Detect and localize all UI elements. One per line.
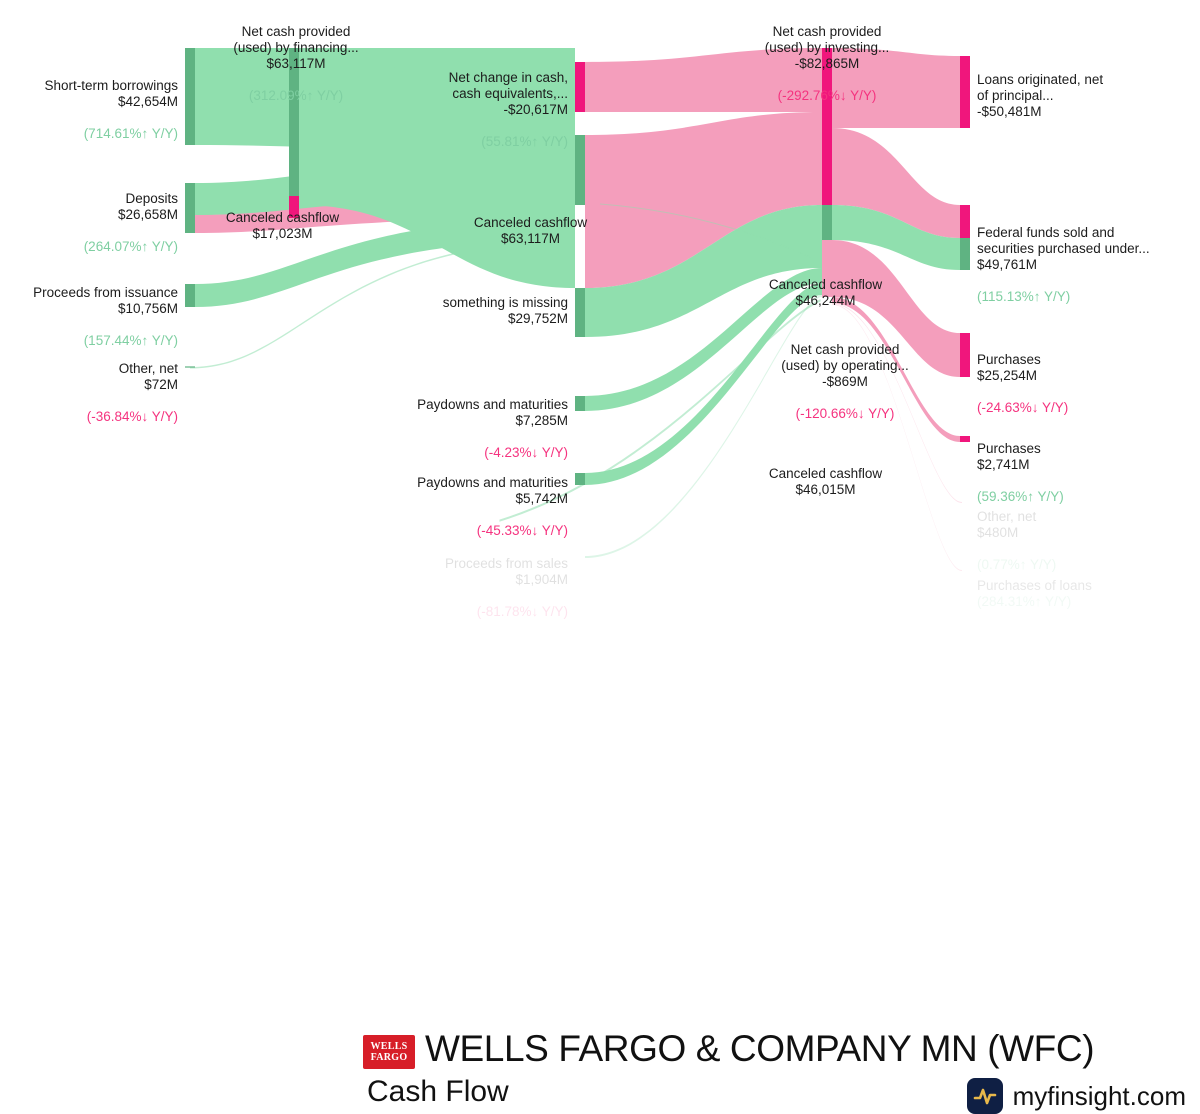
page-subtitle: Cash Flow [367, 1075, 509, 1109]
label-net-cash-operating: Net cash provided (used) by operating...… [750, 326, 940, 438]
node-purchases-25254[interactable] [960, 333, 970, 377]
node-value-text: $25,254M [977, 368, 1177, 384]
node-value-text: -$82,865M [727, 56, 927, 72]
label-net-cash-financing: Net cash provided (used) by financing...… [196, 8, 396, 120]
node-change-text: (55.81%↑ Y/Y) [418, 134, 568, 150]
node-net-change-in-cash[interactable] [575, 62, 585, 112]
node-label-text: Federal funds sold and securities purcha… [977, 225, 1150, 256]
page-title: WELLS FARGO & COMPANY MN (WFC) [425, 1028, 1094, 1070]
label-other-net-left: Other, net $72M (-36.84%↓ Y/Y) [18, 345, 178, 441]
brand-watermark: myfinsight.com [967, 1078, 1186, 1114]
node-value-text: $42,654M [18, 94, 178, 110]
node-value-text: $29,752M [413, 311, 568, 327]
node-label-text: Net cash provided (used) by operating... [781, 342, 909, 373]
node-value-text: -$20,617M [418, 102, 568, 118]
node-value-text: $2,741M [977, 457, 1177, 473]
node-value-text: $17,023M [205, 226, 360, 242]
node-label-text: Proceeds from issuance [33, 285, 178, 300]
node-canceled-cashflow-63117[interactable] [575, 135, 585, 205]
node-something-is-missing[interactable] [575, 288, 585, 337]
wells-fargo-logo: WELLS FARGO [363, 1035, 415, 1069]
node-value-text: $63,117M [453, 231, 608, 247]
node-paydowns-maturities-7285[interactable] [575, 396, 585, 411]
brand-name: myfinsight.com [1013, 1081, 1186, 1112]
node-loans-originated[interactable] [960, 56, 970, 128]
node-value-text: $10,756M [8, 301, 178, 317]
node-change-text: (115.13%↑ Y/Y) [977, 289, 1192, 305]
node-change-text: (714.61%↑ Y/Y) [18, 126, 178, 142]
node-value-text: $7,285M [398, 413, 568, 429]
node-label-text: Purchases [977, 352, 1041, 367]
node-change-text: (-292.76%↓ Y/Y) [727, 88, 927, 104]
label-something-is-missing: something is missing $29,752M [413, 279, 568, 343]
label-federal-funds-sold: Federal funds sold and securities purcha… [977, 209, 1192, 321]
sankey-chart: Short-term borrowings $42,654M (714.61%↑… [0, 0, 1200, 630]
node-label-text: Net change in cash, cash equivalents,... [449, 70, 568, 101]
node-deposits[interactable] [185, 183, 195, 233]
node-label-text: Purchases [977, 441, 1041, 456]
label-net-cash-investing: Net cash provided (used) by investing...… [727, 8, 927, 120]
label-canceled-cashflow-46244: Canceled cashflow $46,244M [748, 261, 903, 325]
node-label-text: Net cash provided (used) by investing... [765, 24, 890, 55]
node-federal-funds-sold-pink[interactable] [960, 205, 970, 238]
node-label-text: Canceled cashflow [769, 466, 882, 481]
node-label-text: Paydowns and maturities [417, 397, 568, 412]
node-proceeds-from-issuance[interactable] [185, 284, 195, 307]
node-label-text: Net cash provided (used) by financing... [233, 24, 358, 55]
node-change-text: (-24.63%↓ Y/Y) [977, 400, 1177, 416]
wells-fargo-logo-line1: WELLS [370, 1041, 407, 1052]
label-net-change-in-cash: Net change in cash, cash equivalents,...… [418, 54, 568, 166]
label-loans-originated: Loans originated, net of principal... -$… [977, 56, 1187, 136]
label-canceled-cashflow-63117: Canceled cashflow $63,117M [453, 199, 608, 263]
footer: WELLS FARGO WELLS FARGO & COMPANY MN (WF… [0, 515, 1200, 630]
label-canceled-cashflow-17023: Canceled cashflow $17,023M [205, 194, 360, 258]
label-short-term-borrowings: Short-term borrowings $42,654M (714.61%↑… [18, 62, 178, 158]
node-change-text: (264.07%↑ Y/Y) [18, 239, 178, 255]
node-value-text: $5,742M [398, 491, 568, 507]
node-canceled-cashflow-46244[interactable] [822, 205, 832, 240]
node-short-term-borrowings[interactable] [185, 48, 195, 145]
node-value-text: -$50,481M [977, 104, 1187, 120]
node-purchases-2741[interactable] [960, 436, 970, 442]
node-label-text: Loans originated, net of principal... [977, 72, 1103, 103]
node-change-text: (-36.84%↓ Y/Y) [18, 409, 178, 425]
node-label-text: Paydowns and maturities [417, 475, 568, 490]
myfinsight-logo-icon [967, 1078, 1003, 1114]
node-label-text: Canceled cashflow [769, 277, 882, 292]
node-label-text: Canceled cashflow [226, 210, 339, 225]
node-other-net-left[interactable] [185, 366, 195, 368]
label-purchases-25254: Purchases $25,254M (-24.63%↓ Y/Y) [977, 336, 1177, 432]
label-canceled-cashflow-46015: Canceled cashflow $46,015M [748, 450, 903, 514]
node-value-text: $26,658M [18, 207, 178, 223]
node-label-text: something is missing [443, 295, 568, 310]
node-label-text: Deposits [125, 191, 178, 206]
node-value-text: $49,761M [977, 257, 1192, 273]
node-label-text: Other, net [119, 361, 178, 376]
node-change-text: (-120.66%↓ Y/Y) [750, 406, 940, 422]
node-federal-funds-sold-green[interactable] [960, 238, 970, 270]
wells-fargo-logo-line2: FARGO [371, 1052, 408, 1063]
node-value-text: -$869M [750, 374, 940, 390]
node-value-text: $46,244M [748, 293, 903, 309]
node-value-text: $46,015M [748, 482, 903, 498]
node-label-text: Canceled cashflow [474, 215, 587, 230]
node-value-text: $72M [18, 377, 178, 393]
node-change-text: (312.09%↑ Y/Y) [196, 88, 396, 104]
node-value-text: $63,117M [196, 56, 396, 72]
node-paydowns-maturities-5742[interactable] [575, 473, 585, 485]
node-label-text: Short-term borrowings [44, 78, 178, 93]
label-deposits: Deposits $26,658M (264.07%↑ Y/Y) [18, 175, 178, 271]
